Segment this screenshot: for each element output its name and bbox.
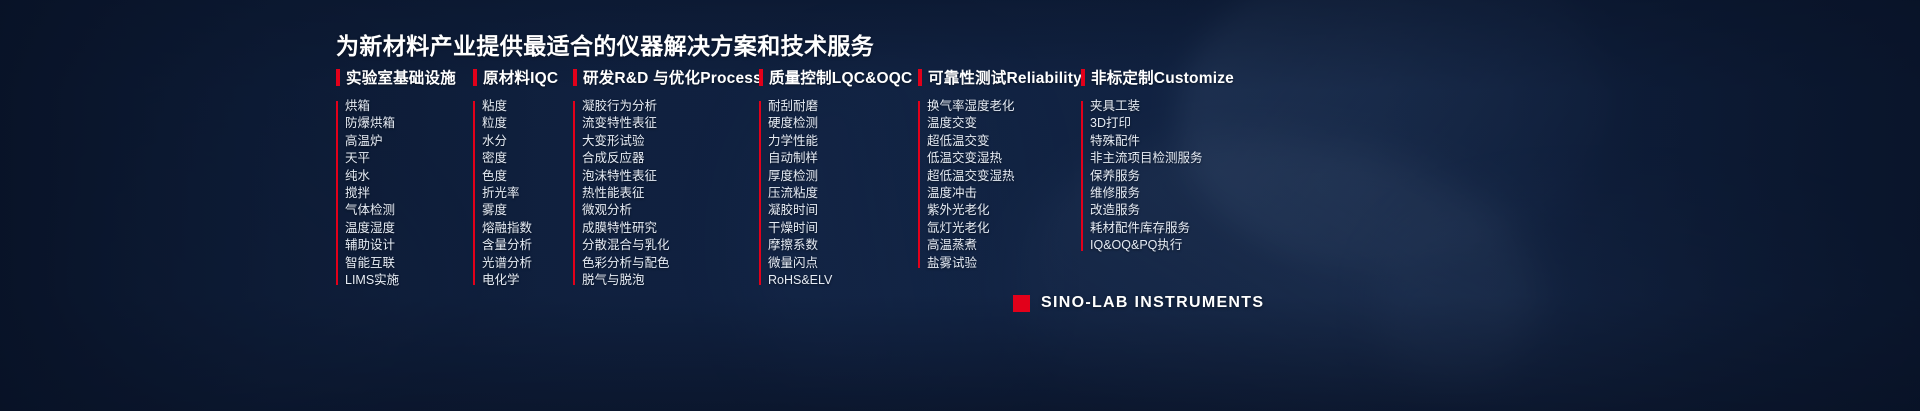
capability-column-reliability: 可靠性测试Reliability 换气率湿度老化 温度交变 超低温交变 低温交变…	[918, 66, 1081, 272]
accent-bar-icon	[1081, 69, 1085, 86]
list-item[interactable]: 水分	[482, 133, 573, 150]
list-item[interactable]: 换气率湿度老化	[927, 98, 1081, 115]
list-item[interactable]: 自动制样	[768, 150, 918, 167]
accent-bar-icon	[918, 69, 922, 86]
capability-columns: 实验室基础设施 烘箱 防爆烘箱 高温炉 天平 纯水 搅拌 气体检测 温度湿度 辅…	[336, 66, 1281, 289]
list-item[interactable]: 粘度	[482, 98, 573, 115]
column-header-label: 原材料IQC	[483, 66, 558, 88]
capability-column-rd-process: 研发R&D 与优化Process 凝胶行为分析 流变特性表征 大变形试验 合成反…	[573, 66, 759, 289]
column-item-list: 夹具工装 3D打印 特殊配件 非主流项目检测服务 保养服务 维修服务 改造服务 …	[1081, 98, 1281, 255]
list-item[interactable]: 辅助设计	[345, 237, 473, 254]
list-item[interactable]: 密度	[482, 150, 573, 167]
brand-name: SINO-LAB INSTRUMENTS	[1041, 294, 1264, 312]
column-header: 质量控制LQC&OQC	[759, 66, 918, 88]
list-item[interactable]: 熔融指数	[482, 220, 573, 237]
list-item[interactable]: 搅拌	[345, 185, 473, 202]
column-header: 研发R&D 与优化Process	[573, 66, 759, 88]
list-item[interactable]: 紫外光老化	[927, 202, 1081, 219]
capability-column-customize: 非标定制Customize 夹具工装 3D打印 特殊配件 非主流项目检测服务 保…	[1081, 66, 1281, 255]
list-item[interactable]: 热性能表征	[582, 185, 759, 202]
brand-logo: SINO-LAB INSTRUMENTS	[1013, 294, 1264, 312]
list-item[interactable]: 压流粘度	[768, 185, 918, 202]
accent-bar-icon	[759, 69, 763, 86]
column-header-label: 质量控制LQC&OQC	[769, 66, 912, 88]
column-item-list: 耐刮耐磨 硬度检测 力学性能 自动制样 厚度检测 压流粘度 凝胶时间 干燥时间 …	[759, 98, 918, 289]
column-divider-line	[759, 101, 761, 285]
list-item[interactable]: 保养服务	[1090, 168, 1281, 185]
list-item[interactable]: 微观分析	[582, 202, 759, 219]
column-header-label: 可靠性测试Reliability	[928, 66, 1082, 88]
list-item[interactable]: 流变特性表征	[582, 115, 759, 132]
column-header-label: 非标定制Customize	[1091, 66, 1234, 88]
banner-root: 为新材料产业提供最适合的仪器解决方案和技术服务 实验室基础设施 烘箱 防爆烘箱 …	[0, 0, 1920, 411]
list-item[interactable]: 含量分析	[482, 237, 573, 254]
column-divider-line	[473, 101, 475, 285]
column-divider-line	[918, 101, 920, 268]
list-item[interactable]: 硬度检测	[768, 115, 918, 132]
capability-column-quality-control: 质量控制LQC&OQC 耐刮耐磨 硬度检测 力学性能 自动制样 厚度检测 压流粘…	[759, 66, 918, 289]
column-header: 非标定制Customize	[1081, 66, 1281, 88]
list-item[interactable]: 折光率	[482, 185, 573, 202]
list-item[interactable]: 力学性能	[768, 133, 918, 150]
column-divider-line	[336, 101, 338, 285]
list-item[interactable]: 天平	[345, 150, 473, 167]
list-item[interactable]: 低温交变湿热	[927, 150, 1081, 167]
list-item[interactable]: 纯水	[345, 168, 473, 185]
list-item[interactable]: LIMS实施	[345, 272, 473, 289]
list-item[interactable]: 厚度检测	[768, 168, 918, 185]
column-header: 实验室基础设施	[336, 66, 473, 88]
list-item[interactable]: 凝胶行为分析	[582, 98, 759, 115]
column-item-list: 换气率湿度老化 温度交变 超低温交变 低温交变湿热 超低温交变湿热 温度冲击 紫…	[918, 98, 1081, 272]
list-item[interactable]: 非主流项目检测服务	[1090, 150, 1281, 167]
brand-square-icon	[1013, 295, 1030, 312]
list-item[interactable]: 耐刮耐磨	[768, 98, 918, 115]
column-header: 可靠性测试Reliability	[918, 66, 1081, 88]
list-item[interactable]: 色度	[482, 168, 573, 185]
accent-bar-icon	[336, 69, 340, 86]
accent-bar-icon	[573, 69, 577, 86]
column-item-list: 烘箱 防爆烘箱 高温炉 天平 纯水 搅拌 气体检测 温度湿度 辅助设计 智能互联…	[336, 98, 473, 289]
list-item[interactable]: 分散混合与乳化	[582, 237, 759, 254]
list-item[interactable]: 耗材配件库存服务	[1090, 220, 1281, 237]
list-item[interactable]: 气体检测	[345, 202, 473, 219]
list-item[interactable]: 维修服务	[1090, 185, 1281, 202]
list-item[interactable]: 盐雾试验	[927, 255, 1081, 272]
list-item[interactable]: 合成反应器	[582, 150, 759, 167]
list-item[interactable]: IQ&OQ&PQ执行	[1090, 237, 1281, 254]
list-item[interactable]: 凝胶时间	[768, 202, 918, 219]
banner-content: 为新材料产业提供最适合的仪器解决方案和技术服务 实验室基础设施 烘箱 防爆烘箱 …	[0, 0, 1920, 411]
column-header-label: 实验室基础设施	[346, 66, 456, 88]
list-item[interactable]: 温度湿度	[345, 220, 473, 237]
list-item[interactable]: 泡沫特性表征	[582, 168, 759, 185]
list-item[interactable]: 智能互联	[345, 255, 473, 272]
list-item[interactable]: 高温炉	[345, 133, 473, 150]
list-item[interactable]: 脱气与脱泡	[582, 272, 759, 289]
column-header: 原材料IQC	[473, 66, 573, 88]
column-header-label: 研发R&D 与优化Process	[583, 66, 762, 88]
list-item[interactable]: 超低温交变湿热	[927, 168, 1081, 185]
page-title: 为新材料产业提供最适合的仪器解决方案和技术服务	[336, 27, 874, 61]
list-item[interactable]: 温度冲击	[927, 185, 1081, 202]
list-item[interactable]: 成膜特性研究	[582, 220, 759, 237]
list-item[interactable]: 氙灯光老化	[927, 220, 1081, 237]
list-item[interactable]: 大变形试验	[582, 133, 759, 150]
list-item[interactable]: 微量闪点	[768, 255, 918, 272]
list-item[interactable]: 3D打印	[1090, 115, 1281, 132]
list-item[interactable]: 粒度	[482, 115, 573, 132]
list-item[interactable]: 光谱分析	[482, 255, 573, 272]
column-item-list: 粘度 粒度 水分 密度 色度 折光率 雾度 熔融指数 含量分析 光谱分析 电化学	[473, 98, 573, 289]
list-item[interactable]: 特殊配件	[1090, 133, 1281, 150]
list-item[interactable]: 改造服务	[1090, 202, 1281, 219]
list-item[interactable]: RoHS&ELV	[768, 272, 918, 289]
column-item-list: 凝胶行为分析 流变特性表征 大变形试验 合成反应器 泡沫特性表征 热性能表征 微…	[573, 98, 759, 289]
list-item[interactable]: 烘箱	[345, 98, 473, 115]
list-item[interactable]: 超低温交变	[927, 133, 1081, 150]
capability-column-lab-infrastructure: 实验室基础设施 烘箱 防爆烘箱 高温炉 天平 纯水 搅拌 气体检测 温度湿度 辅…	[336, 66, 473, 289]
capability-column-raw-material-iqc: 原材料IQC 粘度 粒度 水分 密度 色度 折光率 雾度 熔融指数 含量分析 光…	[473, 66, 573, 289]
list-item[interactable]: 温度交变	[927, 115, 1081, 132]
column-divider-line	[573, 101, 575, 285]
list-item[interactable]: 夹具工装	[1090, 98, 1281, 115]
list-item[interactable]: 雾度	[482, 202, 573, 219]
list-item[interactable]: 摩擦系数	[768, 237, 918, 254]
list-item[interactable]: 电化学	[482, 272, 573, 289]
list-item[interactable]: 干燥时间	[768, 220, 918, 237]
list-item[interactable]: 高温蒸煮	[927, 237, 1081, 254]
column-divider-line	[1081, 101, 1083, 251]
accent-bar-icon	[473, 69, 477, 86]
list-item[interactable]: 色彩分析与配色	[582, 255, 759, 272]
list-item[interactable]: 防爆烘箱	[345, 115, 473, 132]
